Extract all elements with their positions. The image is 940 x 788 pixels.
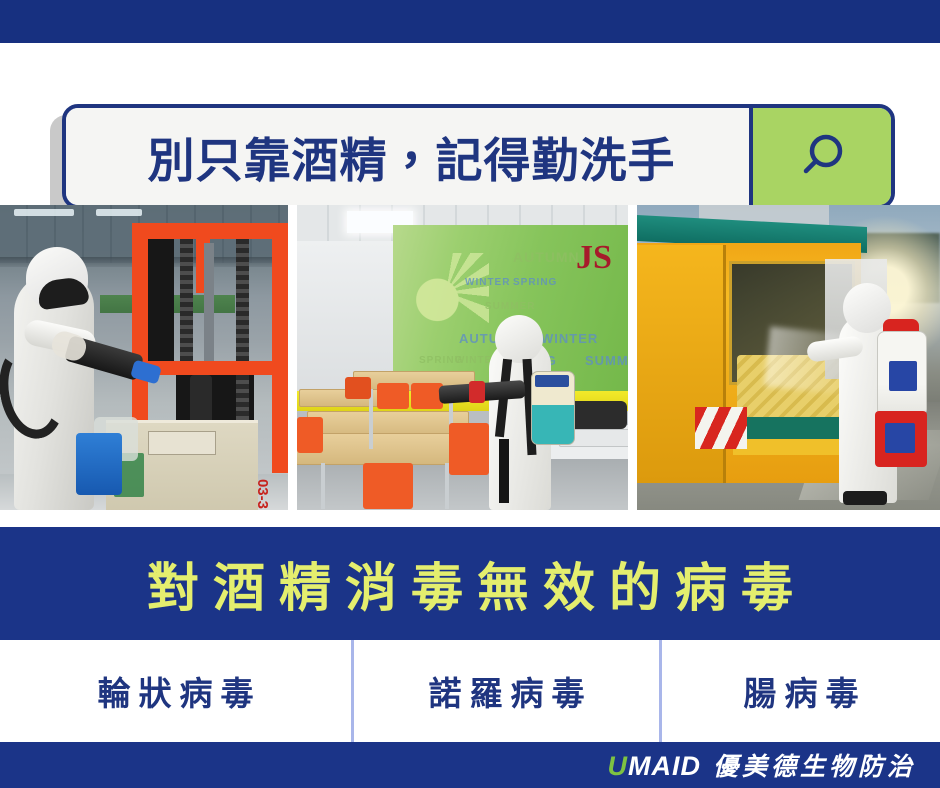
photo-classroom-disinfection: JS AUTUMN WINTER SPRING SUMMER AUTUMN WI… bbox=[297, 205, 628, 510]
mural-word: SPRING bbox=[513, 277, 557, 288]
classroom-chair bbox=[345, 377, 371, 399]
classroom-chair bbox=[377, 383, 409, 409]
top-navy-band bbox=[0, 0, 940, 43]
headline-banner: 對酒精消毒無效的病毒 bbox=[0, 527, 940, 640]
sprayer-label bbox=[889, 361, 917, 391]
photo-gap bbox=[628, 205, 637, 510]
virus-item-norovirus: 諾羅病毒 bbox=[351, 640, 662, 742]
control-box-plate bbox=[148, 431, 216, 455]
classroom-chair bbox=[363, 463, 413, 509]
brand-name: MAID bbox=[628, 751, 701, 782]
footer-bar: U MAID 優美德生物防治 bbox=[0, 742, 940, 788]
virus-item-enterovirus: 腸病毒 bbox=[662, 640, 940, 742]
brand-name-chinese: 優美德生物防治 bbox=[713, 747, 916, 783]
poster-root: 別只靠酒精，記得勤洗手 bbox=[0, 0, 940, 788]
blue-chemical-drum bbox=[76, 433, 122, 495]
mural-word: SUMMER bbox=[585, 353, 628, 368]
worker-in-hazmat-suit bbox=[475, 315, 561, 510]
fogger-nozzle bbox=[469, 381, 485, 403]
mural-word: AUTUMN bbox=[513, 249, 580, 265]
search-icon bbox=[794, 129, 850, 185]
ceiling-lamp-icon bbox=[96, 209, 142, 216]
photo-strip: 03-3 JS A bbox=[0, 205, 940, 510]
search-bar[interactable]: 別只靠酒精，記得勤洗手 bbox=[62, 104, 895, 209]
brand-logo: U MAID 優美德生物防治 bbox=[607, 747, 940, 783]
machine-number: 03-3 bbox=[254, 479, 271, 509]
hazmat-hood bbox=[495, 315, 543, 363]
brand-initial: U bbox=[607, 751, 628, 782]
virus-list: 輪狀病毒 諾羅病毒 腸病毒 bbox=[0, 640, 940, 742]
ceiling-lamp-icon bbox=[14, 209, 74, 216]
classroom-left-wall bbox=[297, 241, 401, 391]
search-button[interactable] bbox=[749, 108, 891, 205]
mural-word: WINTER bbox=[465, 277, 510, 288]
suit-belt bbox=[499, 439, 509, 503]
photo-factory-disinfection: 03-3 bbox=[0, 205, 288, 510]
classroom-chair bbox=[297, 417, 323, 453]
virus-item-rotavirus: 輪狀病毒 bbox=[0, 640, 351, 742]
bus-warning-stripes bbox=[695, 407, 747, 449]
headline-text: 對酒精消毒無效的病毒 bbox=[133, 546, 807, 621]
worker-boot bbox=[843, 491, 887, 505]
mural-word: SUMMER bbox=[485, 301, 535, 312]
classroom-desk bbox=[297, 433, 471, 465]
photo-schoolbus-disinfection bbox=[637, 205, 940, 510]
search-input[interactable]: 別只靠酒精，記得勤洗手 bbox=[66, 108, 749, 205]
worker-in-hazmat-suit bbox=[833, 283, 929, 503]
sprayer-label bbox=[885, 423, 915, 453]
sprayer-label bbox=[535, 375, 569, 387]
search-section: 別只靠酒精，記得勤洗手 bbox=[0, 43, 940, 205]
photo-gap bbox=[288, 205, 297, 510]
